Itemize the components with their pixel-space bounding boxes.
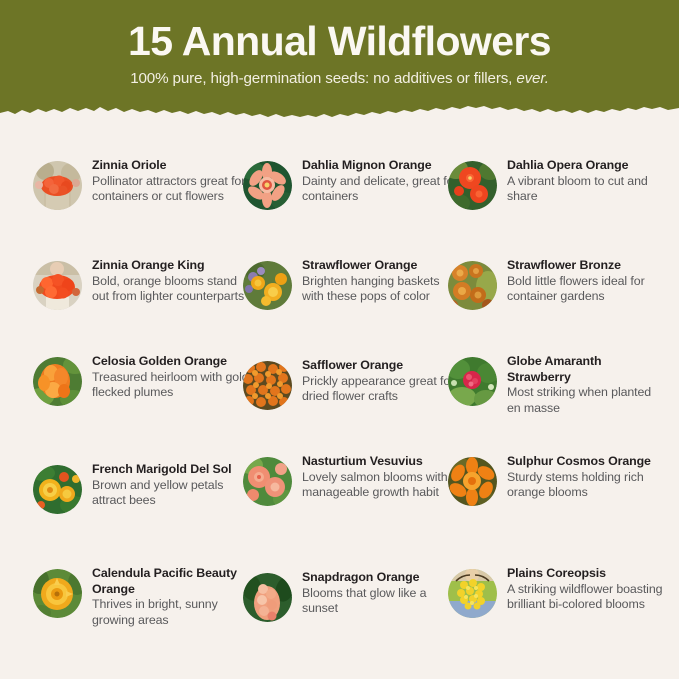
page-subtitle: 100% pure, high-germination seeds: no ad…: [0, 63, 679, 87]
infographic-page: 15 Annual Wildflowers 100% pure, high-ge…: [0, 0, 679, 679]
flower-description: Thrives in bright, sunny growing areas: [92, 597, 253, 628]
flower-name: Sulphur Cosmos Orange: [507, 454, 668, 470]
flower-description: Dainty and delicate, great for container…: [302, 174, 463, 205]
flower-name: Safflower Orange: [302, 358, 463, 374]
flower-thumbnail: [448, 569, 497, 618]
flower-description: Sturdy stems holding rich orange blooms: [507, 470, 668, 501]
flower-name: Dahlia Mignon Orange: [302, 158, 463, 174]
list-item[interactable]: Dahlia Opera Orange A vibrant bloom to c…: [448, 158, 668, 210]
list-item[interactable]: Zinnia Orange King Bold, orange blooms s…: [33, 258, 253, 310]
flower-thumbnail: [33, 465, 82, 514]
item-text: Calendula Pacific Beauty Orange Thrives …: [92, 566, 253, 628]
item-text: Snapdragon Orange Blooms that glow like …: [302, 570, 463, 617]
flower-description: Brown and yellow petals attract bees: [92, 478, 253, 509]
flower-name: Zinnia Oriole: [92, 158, 253, 174]
flower-name: Nasturtium Vesuvius: [302, 454, 463, 470]
item-text: Celosia Golden Orange Treasured heirloom…: [92, 354, 253, 401]
item-text: Strawflower Bronze Bold little flowers i…: [507, 258, 668, 305]
flower-thumbnail: [448, 161, 497, 210]
list-item[interactable]: Strawflower Bronze Bold little flowers i…: [448, 258, 668, 310]
header-text-block: 15 Annual Wildflowers 100% pure, high-ge…: [0, 0, 679, 87]
flower-grid: Zinnia Oriole Pollinator attractors grea…: [0, 124, 679, 679]
item-text: Dahlia Mignon Orange Dainty and delicate…: [302, 158, 463, 205]
list-item[interactable]: Globe Amaranth Strawberry Most striking …: [448, 354, 668, 416]
flower-description: A vibrant bloom to cut and share: [507, 174, 668, 205]
torn-paper-edge-icon: [0, 99, 679, 124]
flower-thumbnail: [243, 457, 292, 506]
flower-thumbnail: [243, 261, 292, 310]
flower-name: Snapdragon Orange: [302, 570, 463, 586]
flower-description: Treasured heirloom with gold flecked plu…: [92, 370, 253, 401]
list-item[interactable]: Snapdragon Orange Blooms that glow like …: [243, 570, 463, 622]
flower-thumbnail: [33, 357, 82, 406]
flower-thumbnail: [448, 261, 497, 310]
header-banner: 15 Annual Wildflowers 100% pure, high-ge…: [0, 0, 679, 124]
list-item[interactable]: Calendula Pacific Beauty Orange Thrives …: [33, 566, 253, 628]
flower-name: Globe Amaranth Strawberry: [507, 354, 668, 385]
item-text: Plains Coreopsis A striking wildflower b…: [507, 566, 668, 613]
flower-name: Strawflower Bronze: [507, 258, 668, 274]
item-text: Safflower Orange Prickly appearance grea…: [302, 358, 463, 405]
flower-description: Pollinator attractors great for containe…: [92, 174, 253, 205]
flower-name: Celosia Golden Orange: [92, 354, 253, 370]
item-text: Zinnia Oriole Pollinator attractors grea…: [92, 158, 253, 205]
flower-description: Bold little flowers ideal for container …: [507, 274, 668, 305]
flower-thumbnail: [448, 457, 497, 506]
flower-description: Lovely salmon blooms with a manageable g…: [302, 470, 463, 501]
flower-thumbnail: [448, 357, 497, 406]
flower-name: French Marigold Del Sol: [92, 462, 253, 478]
flower-description: Blooms that glow like a sunset: [302, 586, 463, 617]
list-item[interactable]: Nasturtium Vesuvius Lovely salmon blooms…: [243, 454, 463, 506]
flower-description: Brighten hanging baskets with these pops…: [302, 274, 463, 305]
item-text: Nasturtium Vesuvius Lovely salmon blooms…: [302, 454, 463, 501]
subtitle-main-text: 100% pure, high-germination seeds: no ad…: [130, 70, 516, 87]
item-text: Globe Amaranth Strawberry Most striking …: [507, 354, 668, 416]
flower-name: Zinnia Orange King: [92, 258, 253, 274]
list-item[interactable]: Dahlia Mignon Orange Dainty and delicate…: [243, 158, 463, 210]
flower-name: Strawflower Orange: [302, 258, 463, 274]
list-item[interactable]: Strawflower Orange Brighten hanging bask…: [243, 258, 463, 310]
flower-name: Dahlia Opera Orange: [507, 158, 668, 174]
list-item[interactable]: French Marigold Del Sol Brown and yellow…: [33, 462, 253, 514]
page-title: 15 Annual Wildflowers: [0, 0, 679, 63]
item-text: Zinnia Orange King Bold, orange blooms s…: [92, 258, 253, 305]
flower-description: A striking wildflower boasting brilliant…: [507, 582, 668, 613]
list-item[interactable]: Safflower Orange Prickly appearance grea…: [243, 358, 463, 410]
flower-thumbnail: [243, 361, 292, 410]
flower-thumbnail: [33, 261, 82, 310]
item-text: Sulphur Cosmos Orange Sturdy stems holdi…: [507, 454, 668, 501]
item-text: Dahlia Opera Orange A vibrant bloom to c…: [507, 158, 668, 205]
subtitle-emphasis-text: ever.: [516, 70, 548, 87]
list-item[interactable]: Celosia Golden Orange Treasured heirloom…: [33, 354, 253, 406]
flower-thumbnail: [33, 161, 82, 210]
flower-thumbnail: [33, 569, 82, 618]
flower-name: Plains Coreopsis: [507, 566, 668, 582]
flower-description: Most striking when planted en masse: [507, 385, 668, 416]
flower-thumbnail: [243, 573, 292, 622]
flower-description: Bold, orange blooms stand out from light…: [92, 274, 253, 305]
flower-thumbnail: [243, 161, 292, 210]
flower-description: Prickly appearance great for dried flowe…: [302, 374, 463, 405]
item-text: French Marigold Del Sol Brown and yellow…: [92, 462, 253, 509]
list-item[interactable]: Zinnia Oriole Pollinator attractors grea…: [33, 158, 253, 210]
list-item[interactable]: Sulphur Cosmos Orange Sturdy stems holdi…: [448, 454, 668, 506]
item-text: Strawflower Orange Brighten hanging bask…: [302, 258, 463, 305]
flower-name: Calendula Pacific Beauty Orange: [92, 566, 253, 597]
list-item[interactable]: Plains Coreopsis A striking wildflower b…: [448, 566, 668, 618]
